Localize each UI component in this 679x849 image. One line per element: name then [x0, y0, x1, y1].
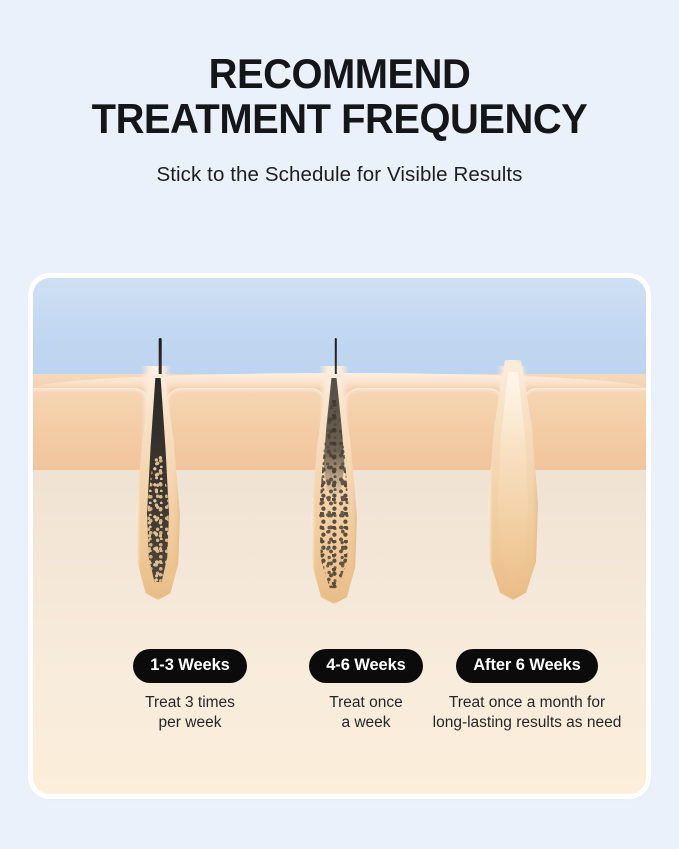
page-subtitle: Stick to the Schedule for Visible Result… — [0, 163, 679, 187]
epidermis-cell — [166, 388, 326, 470]
step-badge[interactable]: After 6 Weeks — [456, 649, 598, 683]
follicle-stage-3 — [482, 338, 544, 608]
page-title-line-2: TREATMENT FREQUENCY — [40, 97, 639, 142]
step-caption: Treat once a month for long-lasting resu… — [402, 693, 646, 733]
page-title: RECOMMEND TREATMENT FREQUENCY — [17, 52, 662, 141]
follicle-stage-2 — [303, 338, 365, 608]
step-badge[interactable]: 1-3 Weeks — [133, 649, 247, 683]
page-title-line-1: RECOMMEND — [40, 52, 639, 97]
treatment-step: After 6 Weeks Treat once a month for lon… — [402, 649, 646, 733]
illustration-panel: 1-3 Weeks Treat 3 times per week 4-6 Wee… — [33, 278, 646, 794]
follicle-stage-1 — [127, 338, 189, 608]
page-header: RECOMMEND TREATMENT FREQUENCY Stick to t… — [0, 0, 679, 187]
epidermis-cell — [344, 388, 504, 470]
